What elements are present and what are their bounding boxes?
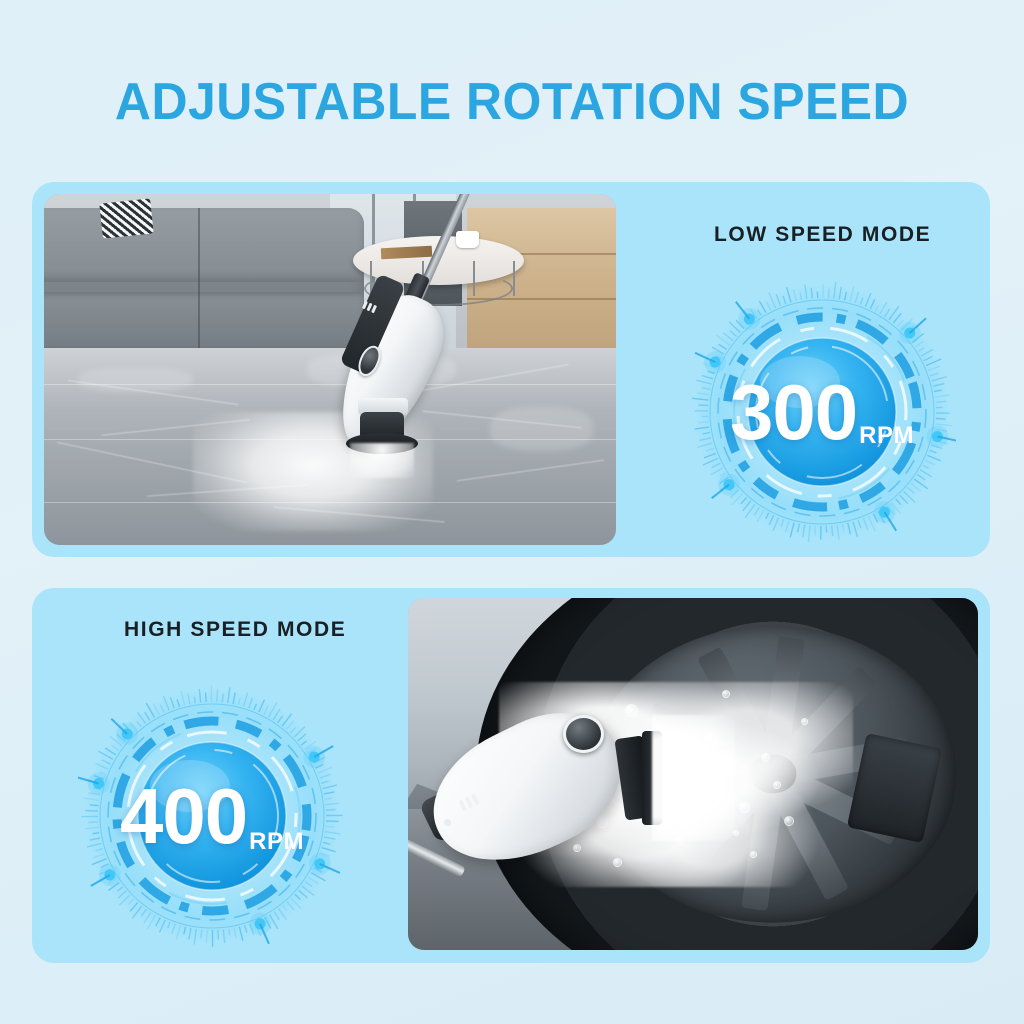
foam-bubble bbox=[722, 690, 730, 698]
foam-bubble bbox=[739, 802, 750, 813]
spin-scrubber-device bbox=[408, 654, 716, 929]
infographic-page: ADJUSTABLE ROTATION SPEED bbox=[0, 0, 1024, 1024]
label-high-speed-mode: HIGH SPEED MODE bbox=[124, 618, 346, 642]
spin-scrubber-device bbox=[307, 194, 501, 531]
label-low-speed-mode: LOW SPEED MODE bbox=[714, 223, 931, 247]
gauge-low-speed: 300 RPM bbox=[688, 278, 956, 546]
foam-bubble bbox=[801, 718, 808, 725]
page-title: ADJUSTABLE ROTATION SPEED bbox=[20, 72, 1003, 132]
gauge-high-speed: 400 RPM bbox=[78, 682, 346, 950]
cushion bbox=[99, 198, 154, 238]
gauge-hud-graphic bbox=[688, 278, 956, 546]
photo-floor-cleaning bbox=[44, 194, 616, 545]
foam-bubble bbox=[773, 781, 781, 789]
bristle-brush bbox=[652, 715, 735, 841]
power-button-icon bbox=[563, 715, 604, 753]
photo-car-wheel-cleaning bbox=[408, 598, 978, 950]
gauge-hud-graphic bbox=[78, 682, 346, 950]
